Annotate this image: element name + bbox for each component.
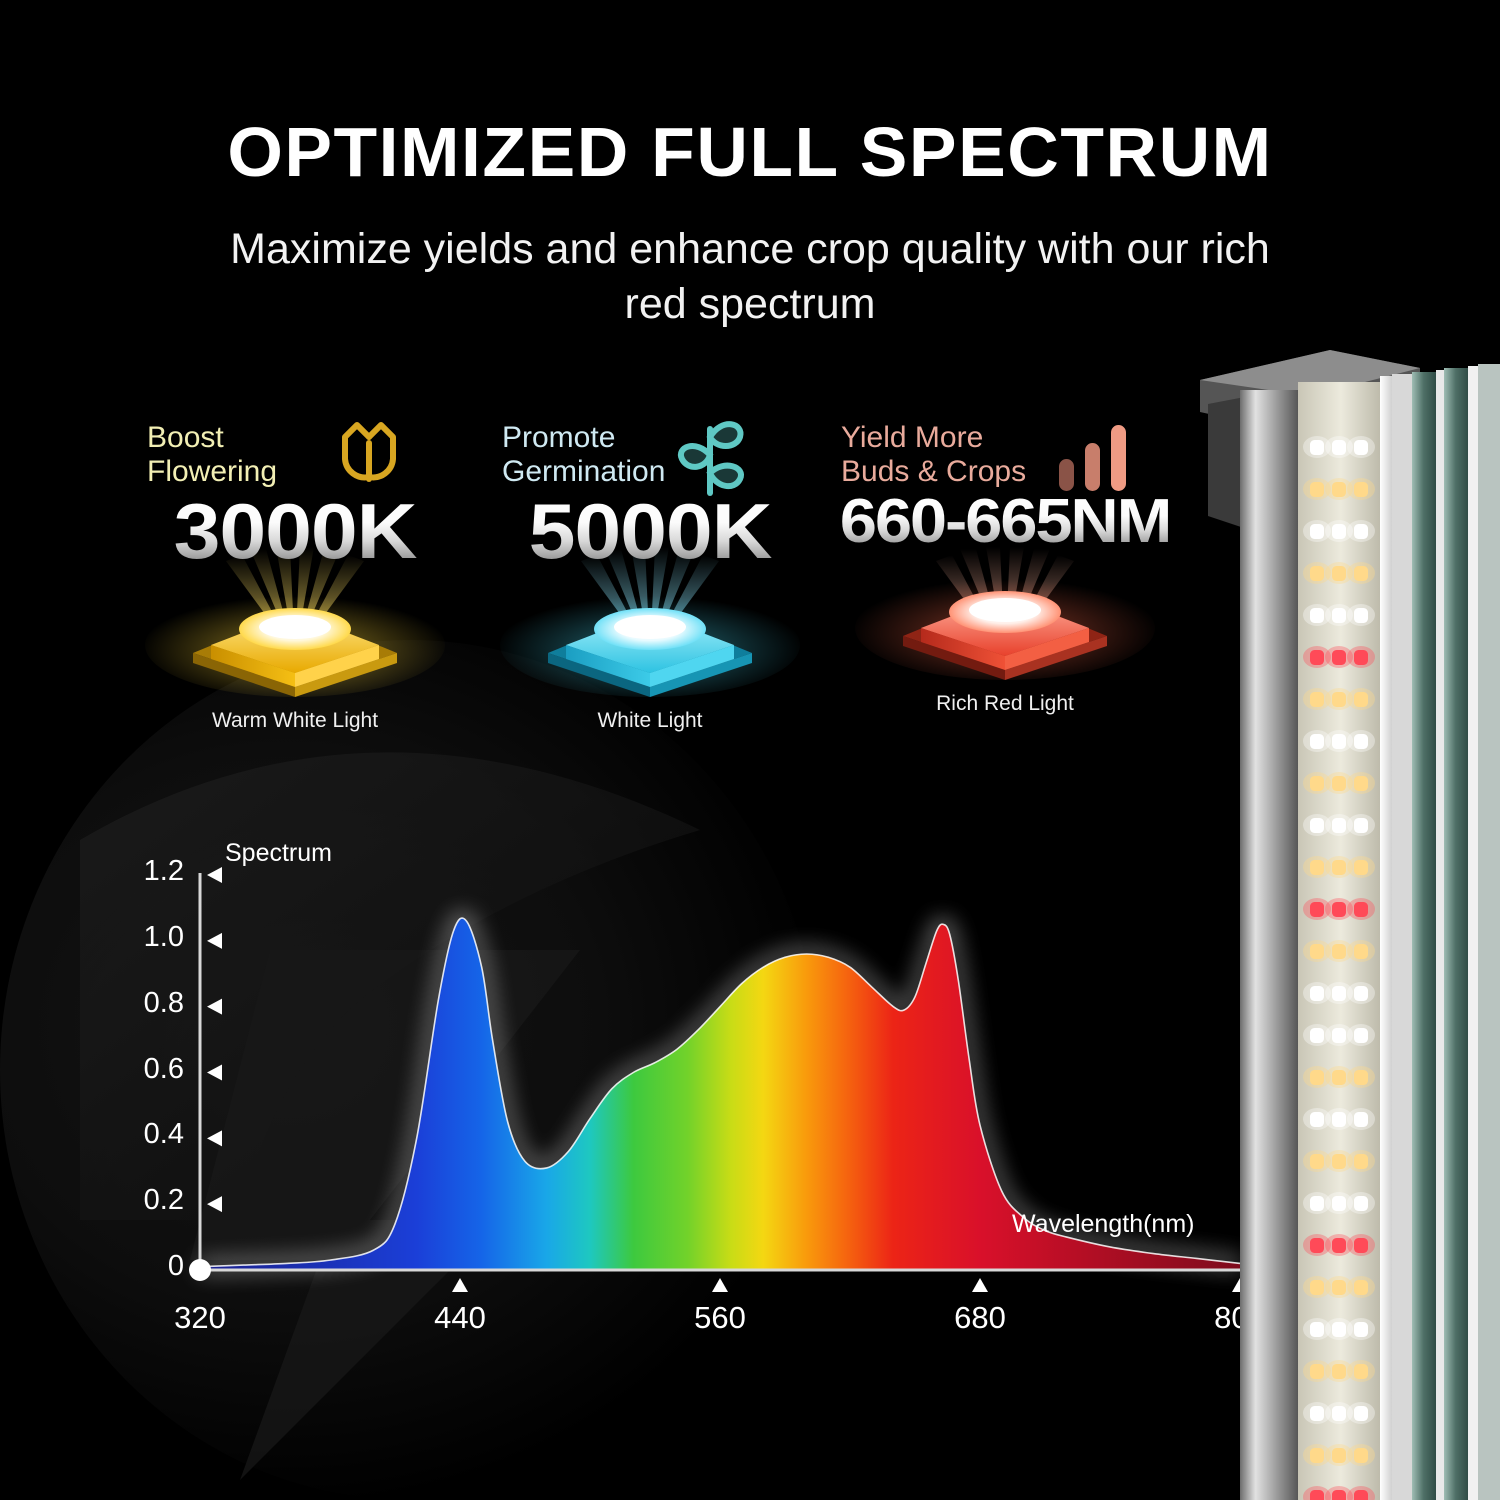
x-tick-label: 560 [665,1300,775,1336]
y-tick-label: 1.0 [114,921,184,954]
led-chip [115,567,475,697]
y-tick-label: 0.6 [114,1053,184,1086]
feature-label: Boost Flowering [147,421,277,488]
led-diode [1347,730,1375,752]
led-diode [1347,856,1375,878]
y-tick-label: 0.2 [114,1184,184,1217]
page-subtitle: Maximize yields and enhance crop quality… [0,222,1500,332]
led-diode [1347,520,1375,542]
led-diode [1347,898,1375,920]
y-tick-label: 0.4 [114,1118,184,1151]
y-tick-label: 0 [114,1250,184,1283]
feature-value: 3000K [101,489,490,573]
feature-promote-germination: Promote Germination [470,415,830,760]
spectrum-chart: Spectrum Wavelength(nm) 00.20.40.60.81.0… [120,855,1260,1345]
led-diode [1347,1276,1375,1298]
x-tick-label: 440 [405,1300,515,1336]
feature-row: Boost Flowering [115,415,1210,760]
y-axis-label: Spectrum [225,839,332,868]
led-chip [470,567,830,697]
led-chip [825,550,1185,680]
led-diode [1347,1108,1375,1130]
led-diode [1347,562,1375,584]
led-diode [1347,604,1375,626]
feature-head: Boost Flowering [115,415,475,491]
led-diode [1347,436,1375,458]
led-diode [1347,1318,1375,1340]
feature-head: Promote Germination [470,415,830,491]
led-diode [1347,1234,1375,1256]
led-diode [1347,1024,1375,1046]
feature-label: Yield More Buds & Crops [841,421,1026,488]
led-diode [1347,1192,1375,1214]
led-diode [1347,1150,1375,1172]
feature-label: Promote Germination [502,421,665,488]
x-axis-label: Wavelength(nm) [1012,1210,1194,1239]
led-diode [1347,1066,1375,1088]
y-tick-label: 0.8 [114,987,184,1020]
led-diode [1347,688,1375,710]
feature-boost-flowering: Boost Flowering [115,415,475,760]
led-diode [1347,982,1375,1004]
feature-caption: Rich Red Light [825,692,1185,716]
bar-chart-icon [1055,423,1133,496]
led-diode [1347,478,1375,500]
header: OPTIMIZED FULL SPECTRUM Maximize yields … [0,0,1500,332]
led-diode [1347,1402,1375,1424]
led-grow-light-bar [1190,340,1500,1500]
led-diode [1347,1360,1375,1382]
spectrum-plot [120,855,1260,1345]
x-tick-label: 320 [145,1300,255,1336]
y-tick-label: 1.2 [114,855,184,888]
feature-value: 5000K [456,489,845,573]
feature-yield-more: Yield More Buds & Crops [825,415,1185,760]
x-tick-label: 680 [925,1300,1035,1336]
led-diode [1347,646,1375,668]
led-diode [1347,814,1375,836]
page-title: OPTIMIZED FULL SPECTRUM [0,112,1500,192]
led-diode [1347,772,1375,794]
led-diode [1347,940,1375,962]
feature-caption: White Light [470,709,830,733]
feature-value: 660-665NM [811,489,1200,556]
feature-head: Yield More Buds & Crops [825,415,1185,491]
led-diode [1347,1444,1375,1466]
feature-caption: Warm White Light [115,709,475,733]
